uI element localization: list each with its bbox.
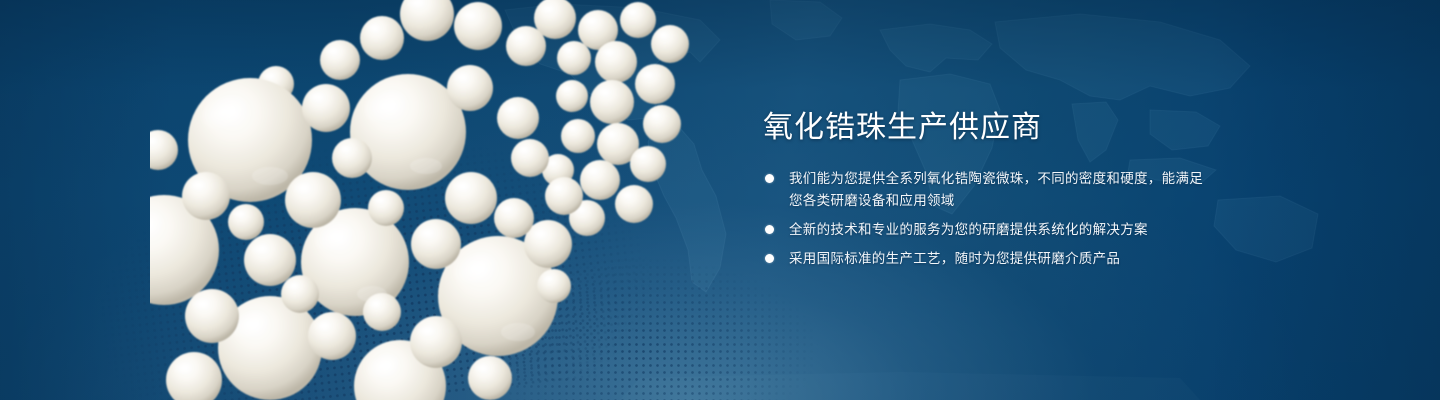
bullet-dot-icon (765, 174, 774, 183)
bullet-dot-icon (765, 225, 774, 234)
page-title: 氧化锆珠生产供应商 (763, 110, 1042, 146)
list-item: 我们能为您提供全系列氧化锆陶瓷微珠，不同的密度和硬度，能满足您各类研磨设备和应用… (765, 168, 1205, 212)
bullet-text: 全新的技术和专业的服务为您的研磨提供系统化的解决方案 (789, 219, 1148, 241)
list-item: 全新的技术和专业的服务为您的研磨提供系统化的解决方案 (765, 219, 1205, 241)
hero-banner: 氧化锆珠生产供应商 我们能为您提供全系列氧化锆陶瓷微珠，不同的密度和硬度，能满足… (0, 0, 1440, 400)
bullet-dot-icon (765, 254, 774, 263)
banner-text-content: 氧化锆珠生产供应商 我们能为您提供全系列氧化锆陶瓷微珠，不同的密度和硬度，能满足… (763, 0, 1233, 400)
feature-bullet-list: 我们能为您提供全系列氧化锆陶瓷微珠，不同的密度和硬度，能满足您各类研磨设备和应用… (765, 168, 1205, 277)
bullet-text: 我们能为您提供全系列氧化锆陶瓷微珠，不同的密度和硬度，能满足您各类研磨设备和应用… (789, 168, 1205, 212)
list-item: 采用国际标准的生产工艺，随时为您提供研磨介质产品 (765, 248, 1205, 270)
bullet-text: 采用国际标准的生产工艺，随时为您提供研磨介质产品 (789, 248, 1120, 270)
